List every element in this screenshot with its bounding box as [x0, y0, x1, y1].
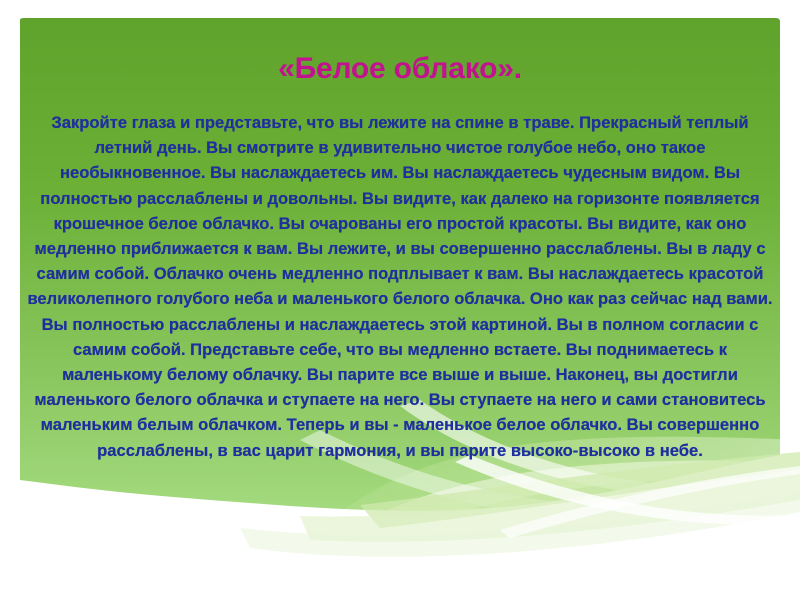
slide-canvas: «Белое облако». Закройте глаза и предста… — [0, 0, 800, 600]
slide-content: «Белое облако». Закройте глаза и предста… — [0, 0, 800, 600]
slide-body-paragraph: Закройте глаза и представьте, что вы леж… — [22, 110, 778, 463]
slide-title: «Белое облако». — [20, 52, 780, 85]
